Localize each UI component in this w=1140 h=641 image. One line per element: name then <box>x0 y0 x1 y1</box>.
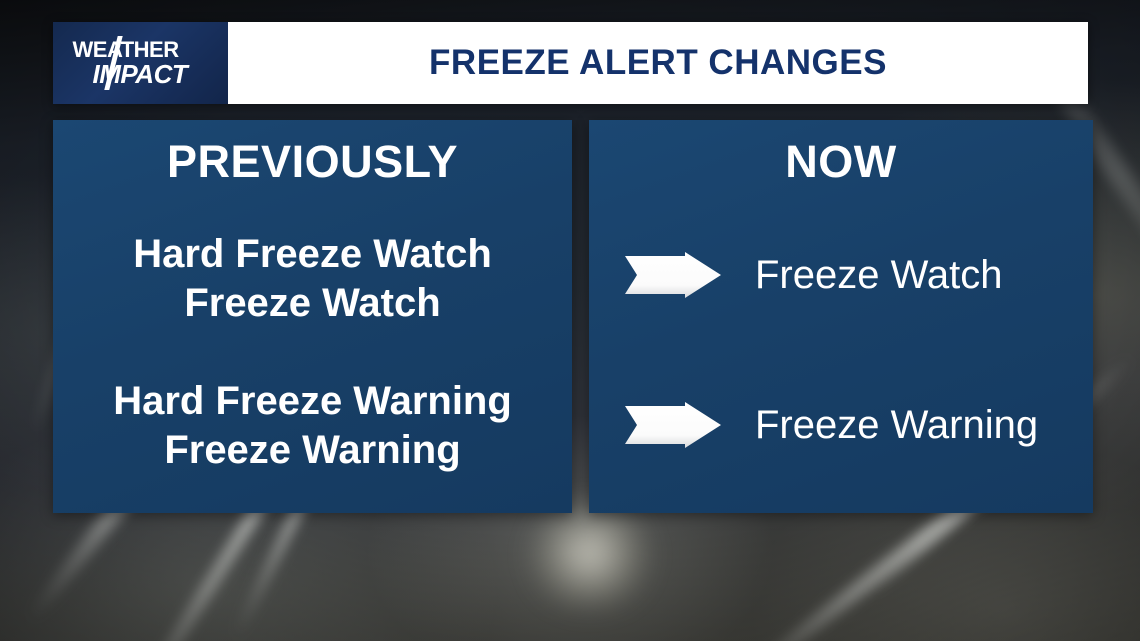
alert-name: Hard Freeze Warning <box>53 377 572 426</box>
now-panel: NOW Freeze Watch <box>589 120 1093 513</box>
alert-name: Freeze Watch <box>53 279 572 328</box>
previously-panel: PREVIOUSLY Hard Freeze Watch Freeze Watc… <box>53 120 572 513</box>
weather-graphic-stage: WEATHER IMPACT FREEZE ALERT CHANGES PREV… <box>0 0 1140 641</box>
panel-divider-gap <box>572 120 589 513</box>
alert-name: Freeze Watch <box>755 253 1002 298</box>
alert-name: Freeze Warning <box>755 403 1038 448</box>
alert-name: Freeze Warning <box>53 426 572 475</box>
now-heading: NOW <box>589 136 1093 188</box>
weather-impact-logo: WEATHER IMPACT <box>53 22 228 104</box>
list-item: Hard Freeze Watch Freeze Watch <box>53 230 572 328</box>
header-bar: WEATHER IMPACT FREEZE ALERT CHANGES <box>53 22 1088 104</box>
list-item: Freeze Warning <box>589 390 1093 460</box>
logo-text-weather: WEATHER <box>73 39 221 61</box>
comparison-panels: PREVIOUSLY Hard Freeze Watch Freeze Watc… <box>53 120 1093 513</box>
right-arrow-icon <box>625 402 721 448</box>
previously-heading: PREVIOUSLY <box>53 136 572 188</box>
list-item: Hard Freeze Warning Freeze Warning <box>53 377 572 475</box>
now-list: Freeze Watch Freeze Warning <box>589 240 1093 460</box>
list-item: Freeze Watch <box>589 240 1093 310</box>
title-banner: FREEZE ALERT CHANGES <box>228 22 1088 104</box>
previously-list: Hard Freeze Watch Freeze Watch Hard Free… <box>53 230 572 475</box>
background-light-glow <box>520 500 660 610</box>
alert-name: Hard Freeze Watch <box>53 230 572 279</box>
page-title: FREEZE ALERT CHANGES <box>429 43 887 83</box>
right-arrow-icon <box>625 252 721 298</box>
